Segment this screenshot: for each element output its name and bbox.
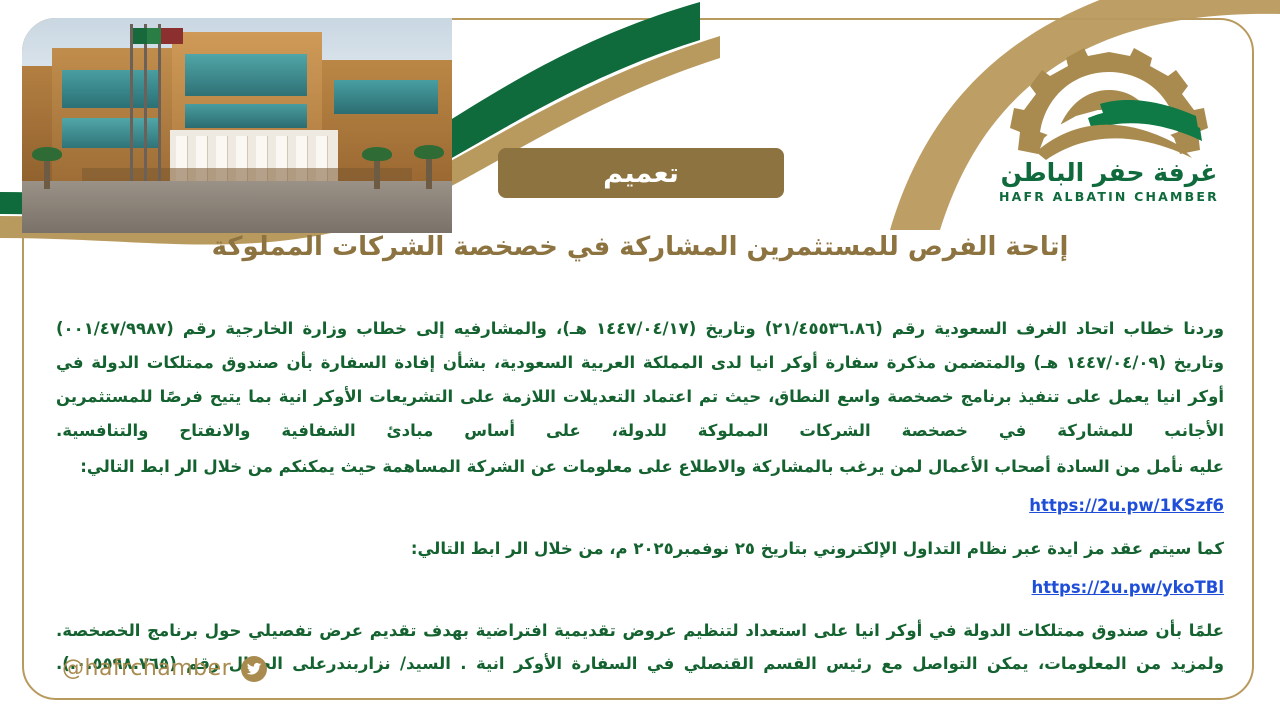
circular-body: وردنا خطاب اتحاد الغرف السعودية رقم (٢١/…: [56, 312, 1224, 681]
social-handle[interactable]: @hafrchamber: [62, 658, 231, 680]
registration-link-1[interactable]: https://2u.pw/1KSzf6: [1029, 489, 1224, 523]
logo-arabic-name: غرفة حفر الباطن: [984, 160, 1234, 185]
circular-ribbon-label: تعميم: [603, 160, 679, 187]
body-paragraph-1: وردنا خطاب اتحاد الغرف السعودية رقم (٢١/…: [56, 312, 1224, 449]
chamber-gear-dunes-logo-icon: [984, 46, 1234, 164]
chamber-logo: غرفة حفر الباطن HAFR ALBATIN CHAMBER: [984, 46, 1234, 206]
link-1-line: https://2u.pw/1KSzf6: [56, 489, 1224, 523]
twitter-bird-icon[interactable]: [241, 656, 267, 682]
link-2-line: https://2u.pw/ykoTBl: [56, 571, 1224, 605]
body-paragraph-3: كما سيتم عقد مز ايدة عبر نظام التداول ال…: [56, 532, 1224, 566]
logo-english-name: HAFR ALBATIN CHAMBER: [984, 191, 1234, 204]
circular-ribbon-badge: تعميم: [498, 148, 784, 198]
page-title: إتاحة الفرص للمستثمرين المشاركة في خصخصة…: [0, 230, 1280, 265]
chamber-building-photo: [22, 18, 452, 233]
auction-link-2[interactable]: https://2u.pw/ykoTBl: [1032, 571, 1225, 605]
social-footer: @hafrchamber: [62, 656, 267, 682]
body-paragraph-2: عليه نأمل من السادة أصحاب الأعمال لمن ير…: [56, 450, 1224, 484]
circular-poster: غرفة حفر الباطن HAFR ALBATIN CHAMBER تعم…: [0, 0, 1280, 720]
